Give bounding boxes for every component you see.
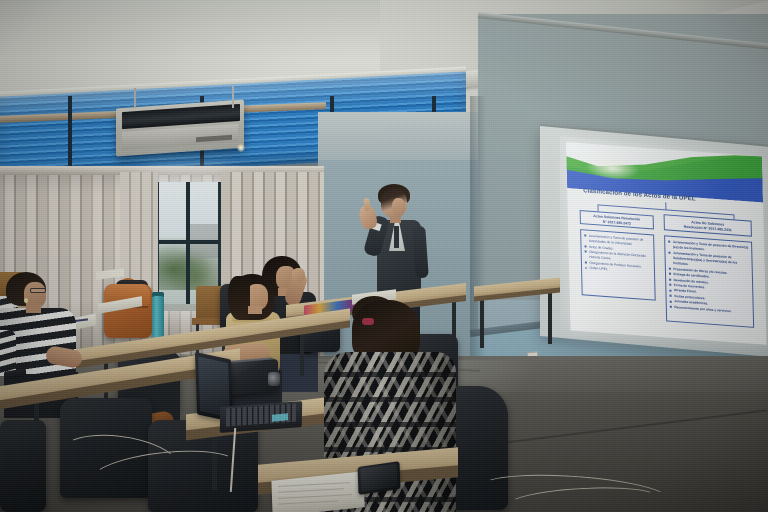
- student-striped-neck: [26, 304, 41, 313]
- projected-slide: Clasificación de los Actos de la UPEL Ac…: [566, 142, 767, 345]
- projector-hotspot: [586, 155, 639, 181]
- classroom-photo: Clasificación de los Actos de la UPEL Ac…: [0, 0, 768, 512]
- desk-leg: [548, 286, 552, 344]
- slide-left-box-heading: Actos Solemnes Resolución N° 2017.485.24…: [581, 213, 653, 228]
- student-gold-hair-front: [228, 276, 250, 320]
- slide-connector: [597, 204, 598, 211]
- light-glint: [237, 144, 245, 152]
- window-mullion-horizontal: [158, 240, 220, 244]
- window-mullion-vertical: [186, 182, 190, 308]
- glasses-icon: [30, 288, 46, 293]
- hair-tie: [362, 318, 374, 325]
- slide-right-box-header: Actos No Solemnes Resolución N° 2017.485…: [664, 214, 752, 237]
- student-dark-hand: [292, 268, 305, 282]
- water-bottle: [152, 296, 164, 338]
- earring: [24, 298, 28, 303]
- projector-lens: [268, 372, 280, 386]
- slide-left-bullet-list: Juramentación y Toma de posesión de Auto…: [580, 229, 656, 301]
- student-gold-neck: [248, 306, 262, 314]
- chair: [0, 420, 46, 512]
- air-conditioner-hanger: [232, 86, 234, 108]
- slide-left-box-header: Actos Solemnes Resolución N° 2017.485.24…: [580, 210, 654, 229]
- laptop-sticker: [272, 413, 288, 421]
- slide-right-bullet-list: Juramentación y Toma de posesión de Dire…: [664, 235, 754, 328]
- presenter-face: [392, 198, 405, 215]
- air-conditioner-hanger: [134, 88, 136, 108]
- presenter-tie: [394, 226, 399, 248]
- desk-leg: [480, 294, 484, 348]
- slide-right-box-heading: Actos No Solemnes Resolución N° 2017.485…: [665, 218, 751, 234]
- front-wall-upper: [318, 112, 478, 164]
